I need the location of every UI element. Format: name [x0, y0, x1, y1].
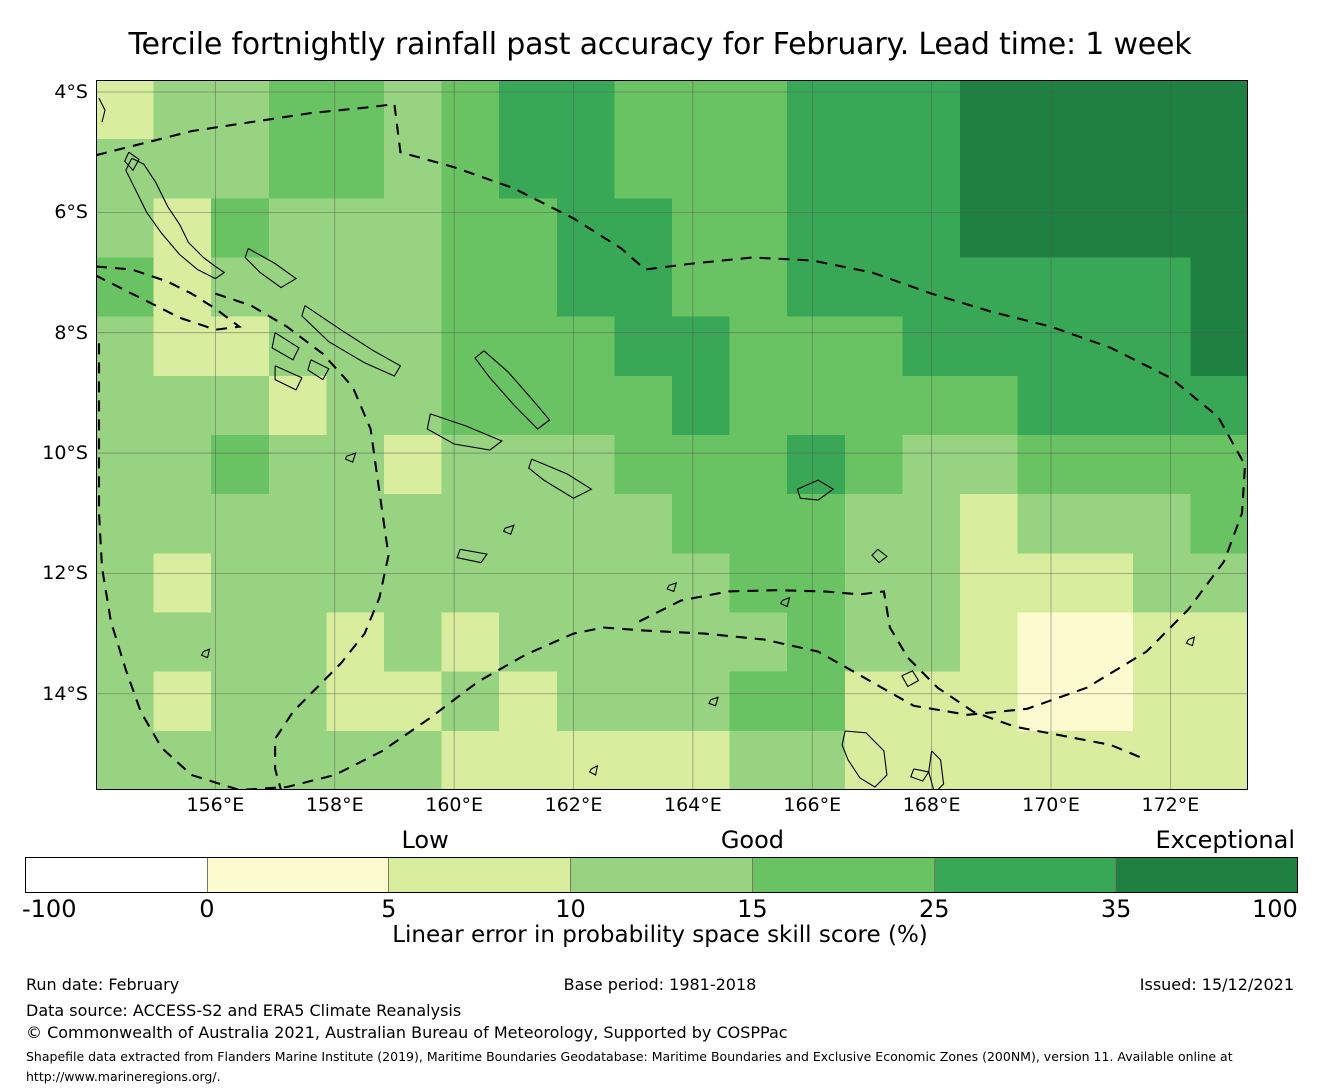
x-tick-172°E: 172°E [1142, 794, 1200, 816]
colorbar-segment-3 [570, 858, 752, 892]
colorbar-tick-0: 0 [199, 895, 214, 923]
page-title: Tercile fortnightly rainfall past accura… [0, 28, 1320, 62]
eez-boundary-0 [96, 104, 1245, 790]
coastline-24 [1187, 637, 1195, 645]
coastline-5 [272, 333, 299, 360]
coastline-0 [99, 98, 105, 122]
colorbar-tick-15: 15 [737, 895, 768, 923]
colorbar-label-good: Good [721, 826, 784, 854]
coastline-3 [245, 249, 296, 288]
coastline-18 [911, 769, 929, 781]
base-period-text: Base period: 1981-2018 [0, 975, 1320, 994]
colorbar-segment-2 [388, 858, 570, 892]
colorbar-tick-10: 10 [555, 895, 586, 923]
x-tick-156°E: 156°E [186, 794, 244, 816]
x-tick-160°E: 160°E [425, 794, 483, 816]
coastline-15 [842, 731, 887, 787]
x-tick-162°E: 162°E [545, 794, 603, 816]
coastline-22 [709, 697, 718, 706]
eez-boundary-3 [639, 590, 1146, 760]
x-tick-168°E: 168°E [903, 794, 961, 816]
coastline-23 [781, 598, 790, 607]
colorbar-tick-5: 5 [381, 895, 396, 923]
eez-boundary-2 [215, 294, 388, 790]
map-overlay [96, 80, 1248, 790]
colorbar-segment-0 [26, 858, 207, 892]
coastline-17 [929, 751, 944, 790]
x-tick-166°E: 166°E [783, 794, 841, 816]
colorbar-segment-6 [1115, 858, 1297, 892]
coastline-26 [590, 766, 598, 775]
coastline-1 [126, 158, 225, 278]
coastline-9 [427, 414, 502, 450]
shapefile-credit-line2: http://www.marineregions.org/. [26, 1069, 221, 1084]
colorbar-segment-4 [752, 858, 934, 892]
y-tick-10°S: 10°S [42, 442, 88, 464]
eez-boundary-1 [96, 267, 239, 330]
y-tick-4°S: 4°S [54, 81, 88, 103]
colorbar-tick--100: -100 [22, 895, 76, 923]
coastline-6 [275, 366, 302, 390]
footer: Run date: February Base period: 1981-201… [0, 975, 1320, 1089]
colorbar-tick-25: 25 [919, 895, 950, 923]
colorbar-title: Linear error in probability space skill … [0, 922, 1320, 948]
colorbar-category-labels: LowGoodExceptional [0, 826, 1320, 854]
coastline-25 [202, 649, 210, 657]
shapefile-credit-line1: Shapefile data extracted from Flanders M… [26, 1049, 1233, 1064]
colorbar-tick-35: 35 [1101, 895, 1132, 923]
x-tick-158°E: 158°E [306, 794, 364, 816]
x-tick-164°E: 164°E [664, 794, 722, 816]
colorbar-segment-5 [934, 858, 1116, 892]
coastline-4 [302, 306, 401, 376]
coastline-11 [457, 549, 487, 562]
colorbar [25, 857, 1298, 893]
coastline-19 [346, 453, 356, 462]
copyright-text: © Commonwealth of Australia 2021, Austra… [26, 1023, 788, 1042]
y-tick-12°S: 12°S [42, 562, 88, 584]
data-source-text: Data source: ACCESS-S2 and ERA5 Climate … [26, 1001, 461, 1020]
coastline-10 [529, 459, 592, 498]
y-tick-8°S: 8°S [54, 322, 88, 344]
coastline-20 [504, 525, 514, 534]
coastline-8 [475, 351, 550, 429]
colorbar-label-low: Low [401, 826, 448, 854]
heatmap-plot [96, 80, 1248, 790]
colorbar-tick-labels: -1000510152535100 [0, 895, 1320, 921]
coastline-14 [902, 671, 919, 687]
colorbar-label-exceptional: Exceptional [1156, 826, 1296, 854]
colorbar-tick-100: 100 [1252, 895, 1298, 923]
x-tick-170°E: 170°E [1022, 794, 1080, 816]
colorbar-segment-1 [207, 858, 389, 892]
coastline-12 [797, 480, 833, 500]
y-tick-14°S: 14°S [42, 683, 88, 705]
coastline-7 [308, 360, 329, 380]
coastline-13 [872, 549, 887, 562]
issued-text: Issued: 15/12/2021 [1140, 975, 1294, 994]
y-tick-6°S: 6°S [54, 201, 88, 223]
coastline-21 [667, 583, 676, 591]
